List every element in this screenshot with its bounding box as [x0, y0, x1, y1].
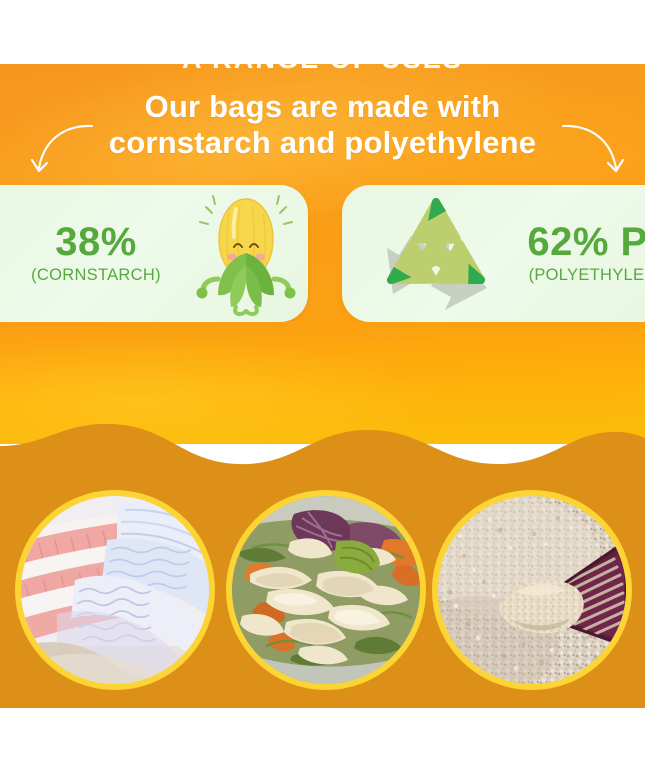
polyethylene-material: (POLYETHYLENE) — [523, 265, 645, 285]
use-item-cat-litter: Cat Litter — [432, 490, 632, 690]
card-cornstarch: 38% (CORNSTARCH) — [0, 185, 308, 322]
vegetable-scraps-photo — [232, 496, 420, 684]
stack-of-diapers-photo — [21, 496, 209, 684]
uses-section-title: A RANGE OF USES — [0, 44, 645, 75]
recycle-arrows-icon — [348, 194, 523, 314]
curved-arrow-down-right-icon — [557, 120, 627, 182]
photo-ring-veggie-scraps — [226, 490, 426, 690]
curved-arrow-down-left-icon — [28, 120, 98, 182]
infographic-page: Our bags are made with cornstarch and po… — [0, 0, 645, 774]
polyethylene-percent: 62% PE — [523, 222, 645, 262]
use-item-veggie-scraps: Veggie Scraps — [226, 490, 426, 690]
headline-line-1: Our bags are made with — [145, 89, 501, 124]
card-polyethylene: 62% PE (POLYETHYLENE) — [342, 185, 645, 322]
polyethylene-text-block: 62% PE (POLYETHYLENE) — [523, 222, 645, 285]
composition-cards: 38% (CORNSTARCH) — [0, 185, 645, 322]
cat-litter-with-scoop-photo — [438, 496, 626, 684]
uses-photo-row: Diapers — [0, 490, 645, 690]
corn-mascot-icon — [184, 191, 308, 317]
cornstarch-material: (CORNSTARCH) — [8, 265, 184, 285]
photo-ring-diapers — [15, 490, 215, 690]
cornstarch-percent: 38% — [8, 222, 184, 262]
use-item-diapers: Diapers — [15, 490, 215, 690]
cornstarch-text-block: 38% (CORNSTARCH) — [8, 222, 184, 285]
photo-ring-cat-litter — [432, 490, 632, 690]
